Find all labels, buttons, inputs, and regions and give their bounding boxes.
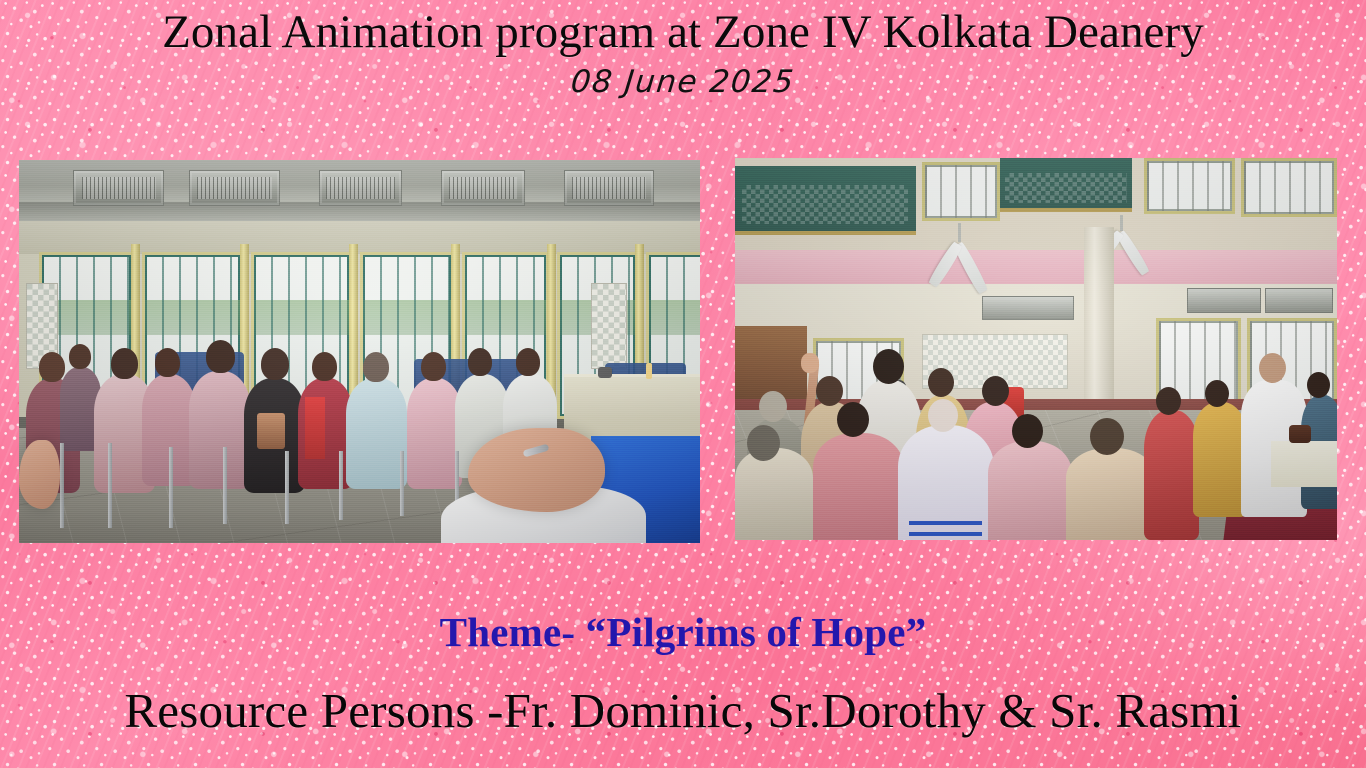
person-head <box>1307 372 1330 398</box>
ac-unit-icon <box>982 296 1074 321</box>
person-head <box>1090 418 1124 455</box>
person-head <box>468 348 492 376</box>
ac-unit-icon <box>189 170 280 206</box>
foreground-hand-left <box>19 440 60 509</box>
cake-icon <box>1289 425 1311 443</box>
upper-window <box>922 162 1000 221</box>
person-head <box>421 352 446 381</box>
person-head <box>928 368 954 397</box>
page-title: Zonal Animation program at Zone IV Kolka… <box>0 8 1366 58</box>
ac-unit-icon <box>564 170 655 206</box>
photo-left-scene <box>19 160 700 543</box>
standing-person <box>1144 410 1198 540</box>
tile-panel <box>591 283 627 369</box>
person-head <box>111 348 138 379</box>
photo-left <box>19 160 700 543</box>
photo-right-scene <box>735 158 1337 540</box>
chair-leg <box>169 447 173 527</box>
hall-column <box>1084 227 1114 426</box>
person-head <box>312 352 337 381</box>
outstretched-hand <box>468 428 604 512</box>
person-head <box>261 348 289 380</box>
photo-right <box>735 158 1337 540</box>
fan-rod <box>958 223 961 242</box>
ac-unit-icon <box>1265 288 1333 313</box>
person-scarf <box>257 413 285 449</box>
person-head <box>516 348 540 376</box>
chair-leg <box>285 451 289 524</box>
chair-leg <box>339 451 343 520</box>
person-head <box>39 352 65 382</box>
resource-persons-text: Resource Persons -Fr. Dominic, Sr.Doroth… <box>0 682 1366 739</box>
green-balcony-panel <box>735 166 916 235</box>
person-head <box>982 376 1009 406</box>
person-head <box>363 352 389 382</box>
person-head <box>1205 380 1229 407</box>
person-head <box>816 376 843 406</box>
ac-unit-icon <box>73 170 164 206</box>
seated-person <box>407 378 461 489</box>
upper-window <box>1241 158 1337 217</box>
standing-person-shawl <box>813 433 903 540</box>
theme-text: Theme- “Pilgrims of Hope” <box>0 608 1366 656</box>
red-dupatta <box>305 397 325 459</box>
ac-unit-icon <box>1187 288 1261 313</box>
ac-unit-icon <box>441 170 525 206</box>
person-head <box>928 399 958 432</box>
standing-person <box>1193 402 1247 517</box>
person-head <box>155 348 180 377</box>
person-head <box>1259 353 1286 383</box>
title-block: Zonal Animation program at Zone IV Kolka… <box>0 8 1366 100</box>
person-head <box>1012 414 1043 448</box>
slide-canvas: Zonal Animation program at Zone IV Kolka… <box>0 0 1366 768</box>
chair-leg <box>108 443 112 527</box>
ac-unit-icon <box>319 170 403 206</box>
pink-wall-band <box>735 250 1337 288</box>
green-balcony-panel <box>1000 158 1132 212</box>
chair-leg <box>400 451 404 516</box>
person-head <box>759 391 787 422</box>
hall-wall-band <box>19 219 700 253</box>
chair-leg <box>223 447 227 524</box>
seated-person <box>189 371 250 490</box>
raised-hand <box>801 353 819 373</box>
chair-leg <box>60 443 64 527</box>
candle-icon <box>646 363 652 379</box>
table-item <box>598 367 612 378</box>
decorated-table <box>1271 441 1337 487</box>
standing-person <box>735 448 813 540</box>
person-head <box>206 340 235 373</box>
nun-in-white-sari <box>898 425 994 540</box>
event-date: 08 June 2025 <box>569 64 796 100</box>
standing-person <box>1066 448 1156 540</box>
upper-window <box>1144 158 1234 214</box>
fan-rod <box>1120 215 1123 230</box>
person-head <box>69 344 91 369</box>
standing-person <box>988 441 1072 540</box>
seated-person <box>346 378 407 489</box>
